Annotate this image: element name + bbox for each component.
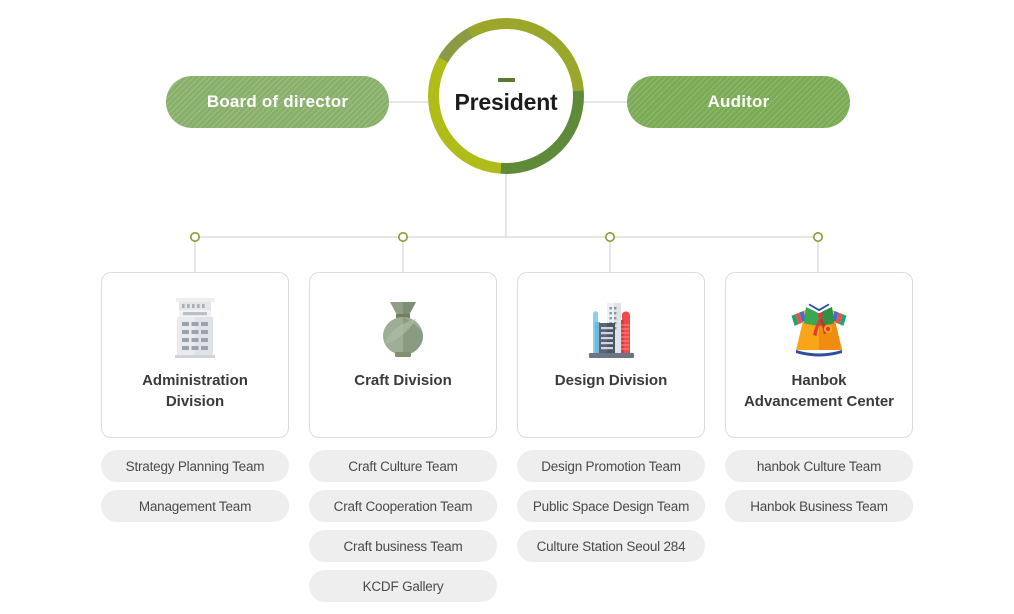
- division-columns: Administration Division Strategy Plannin…: [101, 272, 917, 602]
- team-label: Strategy Planning Team: [126, 459, 265, 474]
- team-pill[interactable]: Management Team: [101, 490, 289, 522]
- division-box-craft[interactable]: Craft Division: [309, 272, 497, 438]
- auditor-node[interactable]: Auditor: [627, 76, 850, 128]
- office-building-icon: [167, 291, 223, 365]
- president-content: President: [428, 18, 584, 174]
- city-buildings-icon: [580, 291, 642, 365]
- team-pill[interactable]: Culture Station Seoul 284: [517, 530, 705, 562]
- team-label: Craft Cooperation Team: [334, 499, 473, 514]
- pottery-vase-icon: [372, 291, 434, 365]
- board-of-director-label: Board of director: [207, 92, 348, 112]
- team-label: Hanbok Business Team: [750, 499, 888, 514]
- team-list-administration: Strategy Planning Team Management Team: [101, 450, 289, 522]
- team-pill[interactable]: Public Space Design Team: [517, 490, 705, 522]
- division-column-hanbok: Hanbok Advancement Center hanbok Culture…: [725, 272, 913, 602]
- division-box-hanbok[interactable]: Hanbok Advancement Center: [725, 272, 913, 438]
- division-box-administration[interactable]: Administration Division: [101, 272, 289, 438]
- team-label: Craft business Team: [343, 539, 462, 554]
- team-list-hanbok: hanbok Culture Team Hanbok Business Team: [725, 450, 913, 522]
- division-title-design: Design Division: [549, 371, 674, 392]
- team-label: Design Promotion Team: [541, 459, 681, 474]
- team-pill[interactable]: Strategy Planning Team: [101, 450, 289, 482]
- team-pill[interactable]: Craft Culture Team: [309, 450, 497, 482]
- team-pill[interactable]: hanbok Culture Team: [725, 450, 913, 482]
- org-chart: Board of director Auditor President: [0, 0, 1014, 614]
- team-list-design: Design Promotion Team Public Space Desig…: [517, 450, 705, 562]
- team-label: Management Team: [139, 499, 251, 514]
- team-label: Craft Culture Team: [348, 459, 457, 474]
- team-label: Public Space Design Team: [533, 499, 689, 514]
- team-pill[interactable]: Hanbok Business Team: [725, 490, 913, 522]
- division-title-administration: Administration Division: [136, 371, 254, 412]
- president-label: President: [454, 91, 557, 114]
- team-pill[interactable]: Design Promotion Team: [517, 450, 705, 482]
- division-column-administration: Administration Division Strategy Plannin…: [101, 272, 289, 602]
- team-pill[interactable]: Craft Cooperation Team: [309, 490, 497, 522]
- board-of-director-node[interactable]: Board of director: [166, 76, 389, 128]
- team-label: hanbok Culture Team: [757, 459, 881, 474]
- hanbok-dress-icon: [782, 291, 856, 365]
- president-node[interactable]: President: [428, 18, 584, 174]
- division-title-craft: Craft Division: [348, 371, 458, 392]
- team-pill[interactable]: KCDF Gallery: [309, 570, 497, 602]
- team-label: KCDF Gallery: [363, 579, 444, 594]
- president-dash-icon: [498, 78, 515, 82]
- team-label: Culture Station Seoul 284: [537, 539, 686, 554]
- division-box-design[interactable]: Design Division: [517, 272, 705, 438]
- division-title-hanbok: Hanbok Advancement Center: [738, 371, 900, 412]
- division-column-design: Design Division Design Promotion Team Pu…: [517, 272, 705, 602]
- team-pill[interactable]: Craft business Team: [309, 530, 497, 562]
- division-column-craft: Craft Division Craft Culture Team Craft …: [309, 272, 497, 602]
- auditor-label: Auditor: [708, 92, 770, 112]
- team-list-craft: Craft Culture Team Craft Cooperation Tea…: [309, 450, 497, 602]
